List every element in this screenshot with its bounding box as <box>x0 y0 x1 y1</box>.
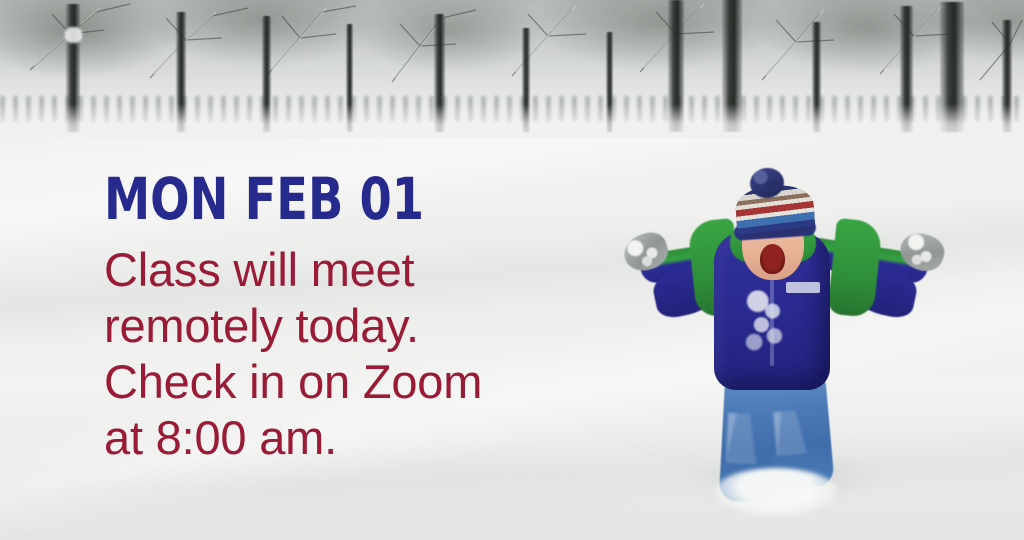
announcement-body: Class will meet remotely today. Check in… <box>104 242 624 466</box>
tree-line <box>0 0 1024 138</box>
body-line-4: at 8:00 am. <box>104 410 624 466</box>
body-line-3: Check in on Zoom <box>104 354 624 410</box>
body-line-1: Class will meet <box>104 242 624 298</box>
body-line-2: remotely today. <box>104 298 624 354</box>
coat-chest-label <box>786 282 820 293</box>
open-mouth <box>760 244 785 274</box>
snow-on-coat <box>744 290 790 352</box>
snow-spray <box>714 468 838 516</box>
page-title: MON FEB 01 <box>104 170 520 228</box>
poster-canvas: MON FEB 01 Class will meet remotely toda… <box>0 0 1024 540</box>
horizon-fade <box>0 104 1024 138</box>
child-figure <box>618 172 948 512</box>
announcement-text-block: MON FEB 01 Class will meet remotely toda… <box>104 170 624 466</box>
